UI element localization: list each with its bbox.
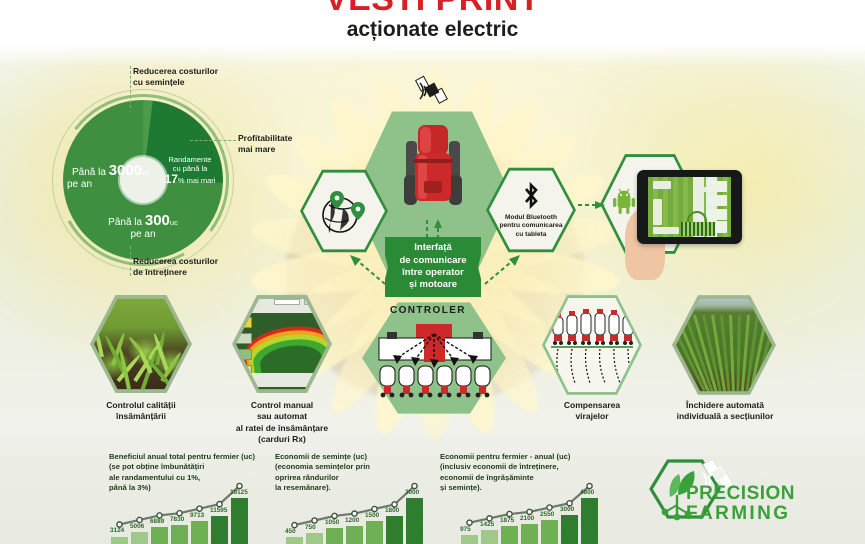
chart-bar	[151, 527, 168, 544]
bluetooth-icon	[520, 181, 542, 211]
page-title: VESTI PRINT	[0, 0, 865, 14]
turn-compensation-diagram	[549, 305, 635, 385]
slice-seed-prefix: Până la	[72, 167, 106, 178]
globe-gps-icon	[315, 185, 373, 237]
rx-toolbar-field-1	[274, 299, 300, 305]
chart-bar	[386, 516, 403, 544]
slice-maint-unit: uc	[170, 218, 178, 227]
chart-total-annual-benefit: Beneficiul anual total pentru fermier (u…	[95, 452, 250, 544]
tablet-status-bar	[653, 227, 679, 234]
chart-bar	[211, 516, 228, 544]
chart-bar	[326, 528, 343, 544]
chart-value-label: 1200	[345, 517, 359, 524]
donut-slice-yield-label: Randamente cu până la 17% mai mari	[159, 156, 221, 187]
chart-bar	[171, 525, 188, 544]
chart-bar	[541, 520, 558, 544]
bluetooth-hexagon-inner: Modul Bluetooth pentru comunicarea cu ta…	[489, 169, 573, 251]
chart-bar	[561, 515, 578, 544]
chart-bar	[521, 524, 538, 544]
slice-maint-value: 300	[145, 212, 170, 229]
feature-photo-rows	[676, 297, 772, 393]
feature-caption-seeding-quality: Controlul calității însămânțării	[80, 400, 202, 423]
feature-photo-rxmap	[236, 297, 328, 391]
chart-bar	[286, 537, 303, 544]
header-background-fade	[0, 44, 865, 66]
slice-maint-prefix: Până la	[108, 217, 142, 228]
chart-seed-savings: Economii de semințe (uc) (economia semin…	[275, 452, 425, 544]
precision-farming-logo: PRECISION FARMING	[620, 455, 820, 544]
chart-farmer-savings: Economii pentru fermier - anual (uc) (in…	[440, 452, 600, 544]
rx-legend-swatch-2	[236, 333, 252, 344]
chart-bar	[501, 526, 518, 544]
page-header: VESTI PRINT acționate electric	[0, 0, 865, 42]
callout-maintenance-cost: Reducerea costurilor de întreținere	[133, 256, 253, 278]
arrow-banner-to-gps	[347, 254, 387, 291]
chart-bar	[231, 498, 248, 544]
page-subtitle: acționate electric	[0, 18, 865, 42]
android-icon	[612, 188, 636, 216]
chart-bar	[346, 526, 363, 544]
feature-caption-turn-compensation: Compensarea virajelor	[535, 400, 649, 423]
chart-value-label: 1425	[480, 521, 494, 528]
bluetooth-label: Modul Bluetooth pentru comunicarea cu ta…	[491, 214, 571, 239]
slice-maint-suffix: pe an	[81, 229, 205, 241]
tractor-icon	[402, 115, 464, 219]
chart-value-label: 9713	[190, 512, 204, 519]
chart-0-title: Beneficiul anual total pentru fermier (u…	[109, 452, 259, 493]
chart-bar	[481, 530, 498, 544]
chart-value-label: 1050	[325, 519, 339, 526]
arrow-bluetooth-to-tablet	[578, 198, 606, 216]
callout-maintenance-cost-label: Reducerea costurilor de întreținere	[133, 256, 218, 277]
chart-value-label: 4800	[580, 489, 594, 496]
feature-photo-corn	[94, 297, 188, 391]
chart-2-title: Economii pentru fermier - anual (uc) (in…	[440, 452, 600, 493]
chart-bar	[131, 532, 148, 544]
chart-bar	[581, 498, 598, 544]
gps-hexagon-inner	[303, 171, 385, 251]
tablet-btn-menu[interactable]	[653, 181, 671, 189]
chart-bar	[406, 498, 423, 544]
callout-line-bottom	[130, 246, 131, 276]
tablet-device	[637, 170, 742, 244]
tablet-screen	[648, 177, 731, 237]
callout-seed-cost: Reducerea costurilor cu semințele	[133, 66, 253, 88]
slice-yield-value: 17	[165, 172, 178, 186]
chart-value-label: 975	[460, 526, 471, 533]
chart-value-label: 7830	[170, 516, 184, 523]
chart-value-label: 6889	[150, 518, 164, 525]
chart-value-label: 450	[285, 528, 296, 535]
callout-profitability: Profitabilitate mai mare	[238, 133, 338, 155]
logo-line-1: PRECISION	[686, 483, 795, 505]
tablet-readout-1	[707, 181, 727, 192]
donut-slice-maintenance-label: Până la 300uc pe an	[81, 212, 205, 241]
chart-value-label: 1875	[500, 517, 514, 524]
donut-slice-seed-label: Până la 3000uc pe an	[65, 162, 157, 191]
controller-title: CONTROLER	[390, 305, 466, 316]
callout-line-right	[190, 140, 236, 141]
chart-bar	[366, 521, 383, 544]
chart-value-label: 19125	[230, 489, 248, 496]
chart-value-label: 1500	[365, 512, 379, 519]
chart-value-label: 3000	[405, 489, 419, 496]
tablet-section-bar	[681, 222, 715, 236]
tablet-readout-2	[707, 195, 727, 206]
satellite-icon	[408, 72, 456, 116]
callout-seed-cost-label: Reducerea costurilor cu semințele	[133, 66, 218, 87]
slice-yield-unit: % mai mari	[178, 176, 216, 185]
chart-value-label: 750	[305, 524, 316, 531]
tablet-btn-zoom[interactable]	[653, 199, 662, 225]
communication-interface-label: Interfață de comunicare între operator ș…	[399, 242, 466, 291]
chart-bar	[461, 535, 478, 544]
feature-caption-section-shutoff: Închidere automată individuală a secțiun…	[660, 400, 790, 423]
chart-value-label: 11595	[210, 507, 227, 514]
arrow-banner-to-bluetooth	[483, 254, 523, 291]
tablet-readout-3	[707, 209, 727, 220]
callout-profitability-label: Profitabilitate mai mare	[238, 133, 292, 154]
slice-seed-suffix: pe an	[65, 179, 157, 191]
chart-value-label: 3124	[110, 527, 124, 534]
rx-map-image	[236, 297, 328, 391]
chart-value-label: 3000	[560, 506, 574, 513]
callout-line-top	[130, 66, 131, 108]
chart-1-title: Economii de semințe (uc) (economia semin…	[275, 452, 423, 493]
slice-seed-unit: uc	[142, 168, 150, 177]
benefits-donut-chart: Până la 3000uc pe an Randamente cu până …	[63, 100, 223, 260]
infographic-canvas: VESTI PRINT acționate electric Reducerea…	[0, 0, 865, 544]
chart-value-label: 1800	[385, 507, 399, 514]
chart-value-label: 2100	[520, 515, 534, 522]
chart-bar	[306, 533, 323, 544]
slice-seed-value: 3000	[109, 162, 142, 179]
controller-diagram	[374, 320, 496, 398]
chart-bar	[111, 537, 128, 544]
communication-interface-banner: Interfață de comunicare între operator ș…	[385, 237, 481, 297]
chart-bar	[191, 521, 208, 544]
feature-caption-manual-auto-rate: Control manual sau automat al ratei de î…	[215, 400, 349, 446]
chart-value-label: 2550	[540, 511, 554, 518]
logo-line-2: FARMING	[686, 503, 790, 525]
chart-value-label: 5006	[130, 523, 144, 530]
